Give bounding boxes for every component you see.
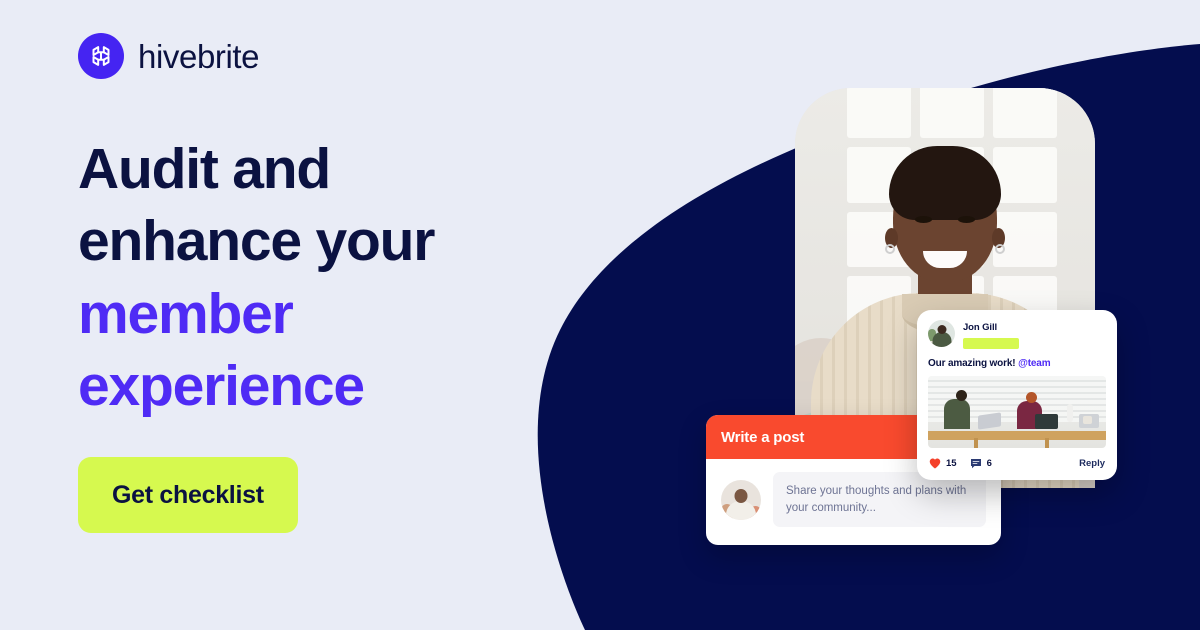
post-text: Our amazing work! @team [917, 349, 1117, 376]
author-badge [963, 338, 1019, 349]
post-text-body: Our amazing work! [928, 358, 1015, 369]
person-eye-right [958, 216, 975, 223]
post-actions: 15 6 Reply [917, 448, 1117, 480]
user-avatar [721, 480, 761, 520]
post-author-row: Jon Gill [917, 310, 1117, 349]
earring-right [995, 244, 1005, 254]
post-mention[interactable]: @team [1018, 358, 1050, 369]
comment-bubble-icon [970, 458, 982, 469]
person-eye-left [915, 216, 932, 223]
page-title: Audit and enhance your member experience [78, 133, 548, 423]
headline-line-2: enhance your [78, 205, 548, 277]
heart-icon [929, 458, 941, 469]
author-avatar[interactable] [928, 320, 955, 347]
earring-left [885, 244, 895, 254]
brand-logo[interactable]: hivebrite [78, 33, 259, 79]
hivebrite-hexagon-logo-icon [78, 33, 124, 79]
headline-line-1: Audit and [78, 133, 548, 205]
author-meta: Jon Gill [963, 320, 1019, 349]
post-composer-input[interactable]: Share your thoughts and plans with your … [773, 472, 986, 527]
headline-line-3: member [78, 278, 548, 350]
promo-banner: hivebrite Audit and enhance your member … [0, 0, 1200, 630]
get-checklist-button[interactable]: Get checklist [78, 457, 298, 533]
write-post-title: Write a post [721, 429, 804, 446]
person-hair [889, 146, 1001, 220]
brand-name: hivebrite [138, 40, 259, 73]
like-stat[interactable]: 15 [929, 458, 957, 469]
comment-count: 6 [987, 458, 992, 469]
post-photo [928, 376, 1106, 448]
like-count: 15 [946, 458, 957, 469]
reply-button[interactable]: Reply [1079, 458, 1105, 469]
post-author-name: Jon Gill [963, 322, 1019, 333]
headline-line-4: experience [78, 350, 548, 422]
comment-stat[interactable]: 6 [970, 458, 992, 469]
feed-post-card: Jon Gill Our amazing work! @team 15 [917, 310, 1117, 480]
